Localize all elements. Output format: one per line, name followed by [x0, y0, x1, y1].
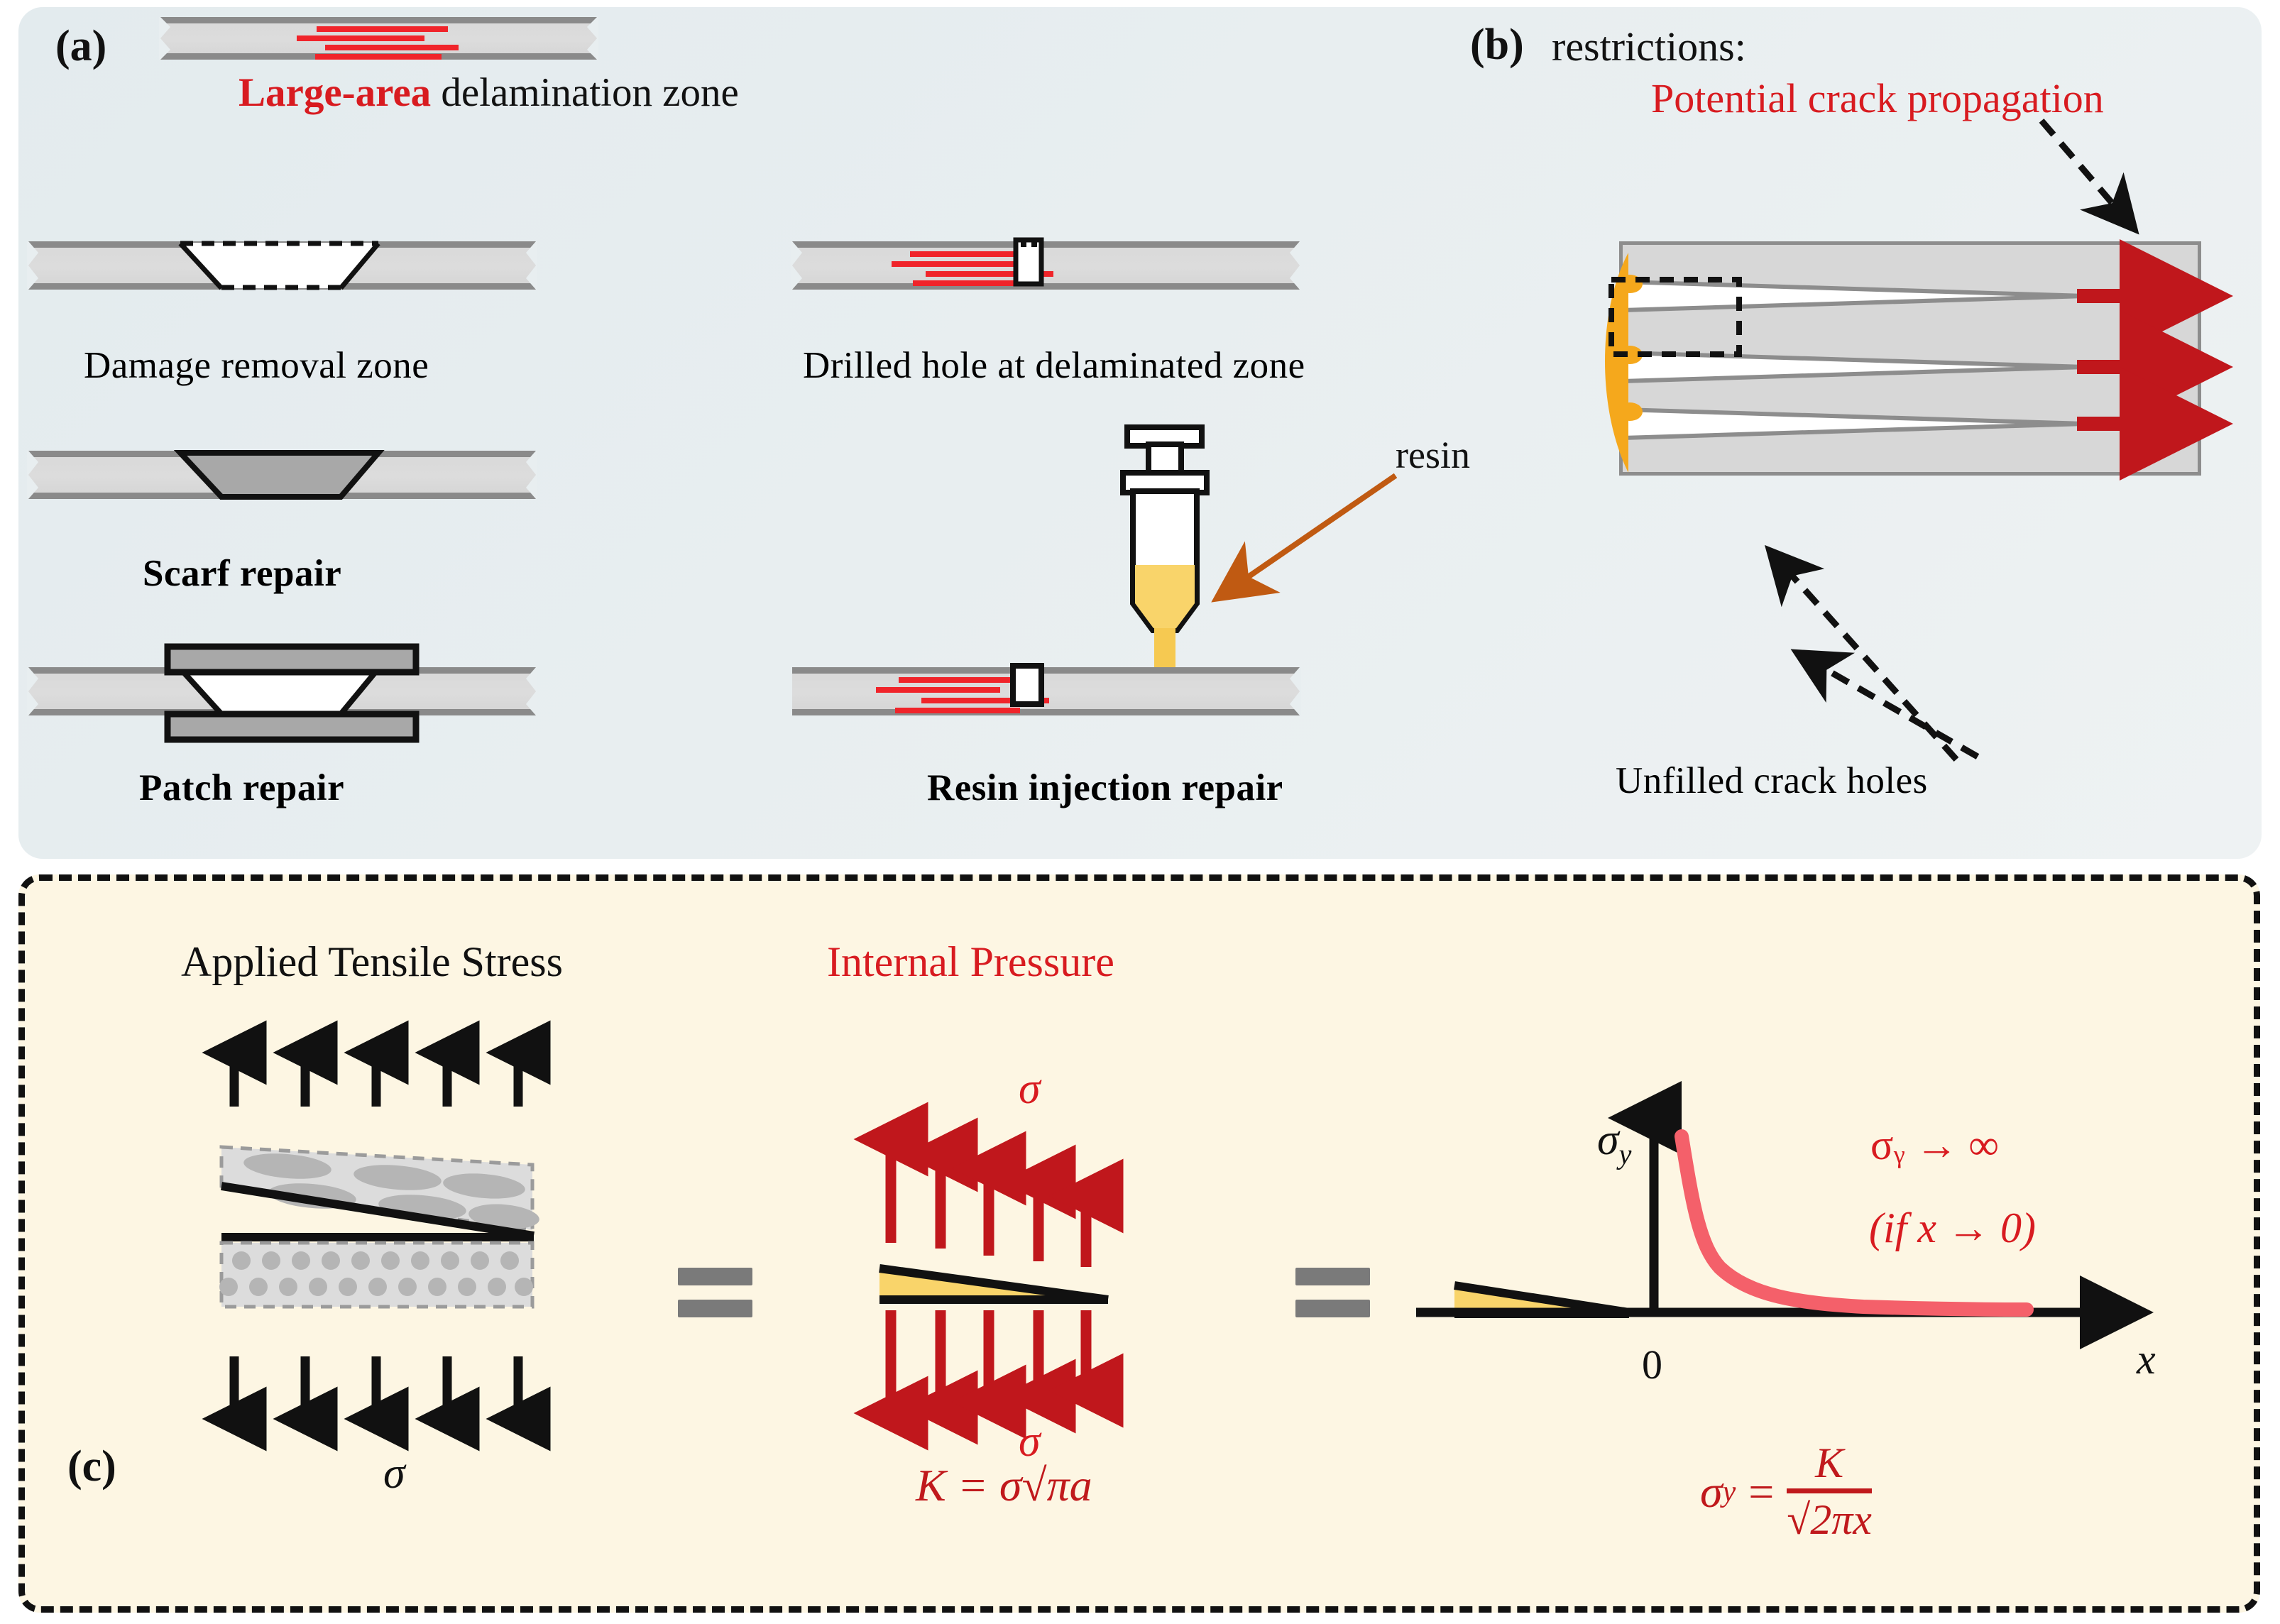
- plate-left-break: [27, 451, 45, 499]
- caption-scarf-repair: Scarf repair: [143, 552, 341, 595]
- caption-resin-injection: Resin injection repair: [927, 767, 1283, 809]
- limit-annotation-line2: (if x → 0): [1869, 1204, 2036, 1253]
- panel-c-container: (c) Applied Tensile Stress Internal Pres…: [18, 874, 2260, 1613]
- panel-c-letter: (c): [67, 1442, 116, 1492]
- axis-y-subscript: y: [1619, 1138, 1632, 1170]
- delamination-crack: [325, 45, 459, 50]
- delamination-crack: [317, 26, 448, 32]
- applied-tensile-stress-diagram: [206, 1044, 646, 1498]
- crack-propagation-leader: [2020, 114, 2219, 256]
- plate-bottom-edge: [792, 283, 1300, 290]
- panel-b-letter: (b): [1470, 20, 1524, 70]
- panel-a-letter: (a): [55, 21, 106, 72]
- plate-large-area-delamination: [160, 17, 597, 60]
- plate-drilled-hole: [792, 241, 1300, 290]
- resin-pointer-arrow: [1183, 461, 1452, 625]
- plate-left-break: [159, 17, 177, 60]
- plate-right-break: [1283, 667, 1301, 715]
- plate-resin-injection: [792, 667, 1300, 715]
- scarf-repair-insert: [28, 451, 536, 499]
- axis-x-label: x: [2137, 1335, 2156, 1384]
- internal-pressure-diagram: [870, 1129, 1267, 1449]
- plate-right-break: [580, 17, 598, 60]
- unfilled-holes-leaders: [1672, 476, 2070, 774]
- internal-pressure-title: Internal Pressure: [827, 938, 1114, 987]
- panel-a-b-container: (a) Large-area delamination zone: [18, 7, 2262, 859]
- caption-damage-removal: Damage removal zone: [84, 344, 429, 387]
- axis-y-sigma: σ: [1597, 1116, 1619, 1164]
- plate-top-edge: [160, 17, 597, 23]
- panel-b-title: restrictions:: [1552, 23, 1746, 70]
- patch-repair-straps: [28, 646, 536, 738]
- large-area-caption: Large-area delamination zone: [239, 70, 739, 116]
- plate-damage-removal: [28, 241, 536, 290]
- caption-drilled-hole: Drilled hole at delaminated zone: [803, 344, 1305, 387]
- formula-equals: =: [1748, 1466, 1774, 1518]
- plate-left-break: [27, 241, 45, 290]
- formula-k-sigma-sqrt-pi-a: K = σ√πa: [916, 1459, 1092, 1512]
- caption-unfilled-crack-holes: Unfilled crack holes: [1616, 759, 1928, 802]
- plate-right-break: [1283, 241, 1301, 290]
- large-area-caption-red: Large-area: [239, 70, 431, 115]
- axis-y-label: σy: [1597, 1115, 1631, 1170]
- plate-left-break: [791, 241, 809, 290]
- detail-highlight-box: [1608, 277, 1750, 362]
- drill-hole-icon: [792, 236, 1300, 284]
- equals-sign-2: [1295, 1268, 1370, 1317]
- formula-sigma-y: σy = K √2πx: [1700, 1442, 1872, 1542]
- plate-right-break: [519, 451, 537, 499]
- formula-sigma-sub: y: [1723, 1475, 1736, 1509]
- plate-right-break: [519, 241, 537, 290]
- large-area-caption-rest: delamination zone: [431, 70, 739, 115]
- damage-removal-cutout: [28, 241, 536, 290]
- injection-hole: [792, 667, 1300, 715]
- limit-annotation-line1: σᵧ → ∞: [1870, 1121, 1999, 1170]
- formula-sigma: σ: [1700, 1466, 1723, 1518]
- equals-sign-1: [678, 1268, 752, 1317]
- plate-scarf-repair: [28, 451, 536, 499]
- chart-origin-label: 0: [1642, 1341, 1662, 1388]
- caption-patch-repair: Patch repair: [139, 767, 344, 809]
- resin-label: resin: [1396, 433, 1470, 477]
- applied-tensile-stress-title: Applied Tensile Stress: [181, 938, 563, 987]
- delamination-crack: [297, 35, 424, 41]
- sigma-label-top-middle: σ: [1019, 1064, 1041, 1114]
- sigma-label-left: σ: [383, 1449, 405, 1499]
- formula-numerator: K: [1787, 1442, 1872, 1484]
- delamination-crack: [315, 54, 442, 60]
- formula-denominator: √2πx: [1787, 1498, 1872, 1542]
